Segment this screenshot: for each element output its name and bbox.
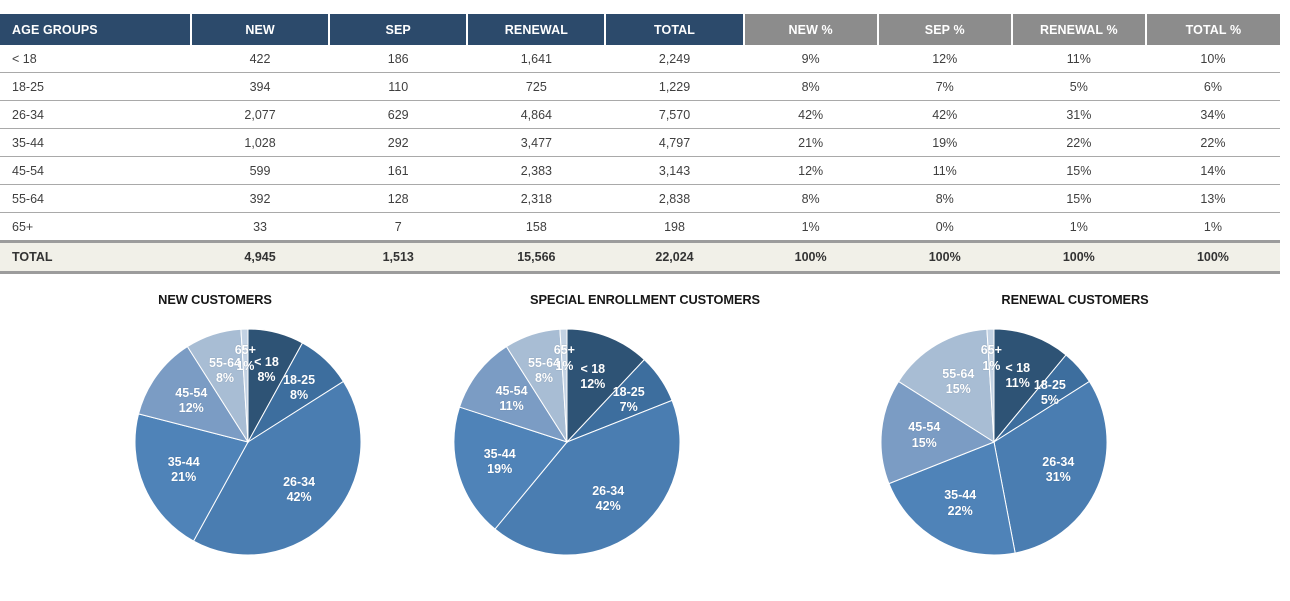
total-value: 100% — [878, 242, 1012, 273]
total-value: 100% — [1012, 242, 1146, 273]
cell-value: 3,477 — [467, 129, 605, 157]
table-body: < 184221861,6412,2499%12%11%10%18-253941… — [0, 45, 1280, 273]
column-header-total[interactable]: TOTAL — [605, 14, 743, 45]
total-value: 100% — [1146, 242, 1280, 273]
cell-value: 0% — [878, 213, 1012, 242]
row-label: 55-64 — [0, 185, 191, 213]
cell-value: 292 — [329, 129, 467, 157]
pie-svg — [0, 312, 430, 592]
chart-title: RENEWAL CUSTOMERS — [860, 288, 1290, 312]
cell-value: 19% — [878, 129, 1012, 157]
table-row: 65+3371581981%0%1%1% — [0, 213, 1280, 242]
age-groups-table-container: AGE GROUPSNEWSEPRENEWALTOTALNEW %SEP %RE… — [0, 14, 1280, 274]
cell-value: 394 — [191, 73, 329, 101]
cell-value: 1% — [1012, 213, 1146, 242]
table-row: 18-253941107251,2298%7%5%6% — [0, 73, 1280, 101]
table-header: AGE GROUPSNEWSEPRENEWALTOTALNEW %SEP %RE… — [0, 14, 1280, 45]
cell-value: 2,383 — [467, 157, 605, 185]
cell-value: 8% — [878, 185, 1012, 213]
cell-value: 161 — [329, 157, 467, 185]
cell-value: 11% — [1012, 45, 1146, 73]
row-label: 26-34 — [0, 101, 191, 129]
cell-value: 158 — [467, 213, 605, 242]
column-header-total[interactable]: TOTAL % — [1146, 14, 1280, 45]
table-row: 35-441,0282923,4774,79721%19%22%22% — [0, 129, 1280, 157]
cell-value: 7 — [329, 213, 467, 242]
total-value: 100% — [744, 242, 878, 273]
cell-value: 2,077 — [191, 101, 329, 129]
cell-value: 12% — [744, 157, 878, 185]
cell-value: 15% — [1012, 157, 1146, 185]
column-header-new[interactable]: NEW — [191, 14, 329, 45]
cell-value: 392 — [191, 185, 329, 213]
total-value: 15,566 — [467, 242, 605, 273]
cell-value: 1,641 — [467, 45, 605, 73]
cell-value: 14% — [1146, 157, 1280, 185]
cell-value: 1,229 — [605, 73, 743, 101]
cell-value: 33 — [191, 213, 329, 242]
cell-value: 725 — [467, 73, 605, 101]
cell-value: 11% — [878, 157, 1012, 185]
cell-value: 599 — [191, 157, 329, 185]
cell-value: 15% — [1012, 185, 1146, 213]
age-groups-table: AGE GROUPSNEWSEPRENEWALTOTALNEW %SEP %RE… — [0, 14, 1280, 274]
pie-svg — [860, 312, 1290, 592]
cell-value: 22% — [1012, 129, 1146, 157]
cell-value: 6% — [1146, 73, 1280, 101]
row-label: 35-44 — [0, 129, 191, 157]
total-label: TOTAL — [0, 242, 191, 273]
cell-value: 8% — [744, 185, 878, 213]
cell-value: 2,318 — [467, 185, 605, 213]
row-label: 18-25 — [0, 73, 191, 101]
table-row: 45-545991612,3833,14312%11%15%14% — [0, 157, 1280, 185]
cell-value: 8% — [744, 73, 878, 101]
cell-value: 7% — [878, 73, 1012, 101]
table-total-row: TOTAL4,9451,51315,56622,024100%100%100%1… — [0, 242, 1280, 273]
cell-value: 198 — [605, 213, 743, 242]
cell-value: 186 — [329, 45, 467, 73]
cell-value: 1% — [744, 213, 878, 242]
cell-value: 31% — [1012, 101, 1146, 129]
column-header-renewal[interactable]: RENEWAL % — [1012, 14, 1146, 45]
table-row: 55-643921282,3182,8388%8%15%13% — [0, 185, 1280, 213]
pie-holder: < 1812%18-257%26-3442%35-4419%45-5411%55… — [430, 312, 860, 592]
column-header-renewal[interactable]: RENEWAL — [467, 14, 605, 45]
cell-value: 629 — [329, 101, 467, 129]
cell-value: 42% — [744, 101, 878, 129]
pie-svg — [430, 312, 860, 592]
row-label: 65+ — [0, 213, 191, 242]
pie-chart-block: NEW CUSTOMERS< 188%18-258%26-3442%35-442… — [0, 288, 430, 601]
cell-value: 4,864 — [467, 101, 605, 129]
chart-title: SPECIAL ENROLLMENT CUSTOMERS — [430, 288, 860, 312]
cell-value: 10% — [1146, 45, 1280, 73]
cell-value: 21% — [744, 129, 878, 157]
pie-chart-block: RENEWAL CUSTOMERS< 1811%18-255%26-3431%3… — [860, 288, 1290, 601]
row-label: 45-54 — [0, 157, 191, 185]
cell-value: 34% — [1146, 101, 1280, 129]
cell-value: 12% — [878, 45, 1012, 73]
column-header-sep[interactable]: SEP % — [878, 14, 1012, 45]
cell-value: 3,143 — [605, 157, 743, 185]
pie-holder: < 188%18-258%26-3442%35-4421%45-5412%55-… — [0, 312, 430, 592]
column-header-sep[interactable]: SEP — [329, 14, 467, 45]
cell-value: 2,838 — [605, 185, 743, 213]
pie-holder: < 1811%18-255%26-3431%35-4422%45-5415%55… — [860, 312, 1290, 592]
table-header-row: AGE GROUPSNEWSEPRENEWALTOTALNEW %SEP %RE… — [0, 14, 1280, 45]
total-value: 22,024 — [605, 242, 743, 273]
cell-value: 1% — [1146, 213, 1280, 242]
pie-charts-row: NEW CUSTOMERS< 188%18-258%26-3442%35-442… — [0, 288, 1290, 601]
chart-title: NEW CUSTOMERS — [0, 288, 430, 312]
cell-value: 9% — [744, 45, 878, 73]
cell-value: 1,028 — [191, 129, 329, 157]
cell-value: 22% — [1146, 129, 1280, 157]
table-row: 26-342,0776294,8647,57042%42%31%34% — [0, 101, 1280, 129]
column-header-new[interactable]: NEW % — [744, 14, 878, 45]
pie-chart-block: SPECIAL ENROLLMENT CUSTOMERS< 1812%18-25… — [430, 288, 860, 601]
cell-value: 42% — [878, 101, 1012, 129]
total-value: 4,945 — [191, 242, 329, 273]
cell-value: 13% — [1146, 185, 1280, 213]
cell-value: 128 — [329, 185, 467, 213]
table-row: < 184221861,6412,2499%12%11%10% — [0, 45, 1280, 73]
cell-value: 5% — [1012, 73, 1146, 101]
cell-value: 7,570 — [605, 101, 743, 129]
cell-value: 2,249 — [605, 45, 743, 73]
total-value: 1,513 — [329, 242, 467, 273]
cell-value: 422 — [191, 45, 329, 73]
cell-value: 110 — [329, 73, 467, 101]
column-header-age-groups[interactable]: AGE GROUPS — [0, 14, 191, 45]
cell-value: 4,797 — [605, 129, 743, 157]
row-label: < 18 — [0, 45, 191, 73]
